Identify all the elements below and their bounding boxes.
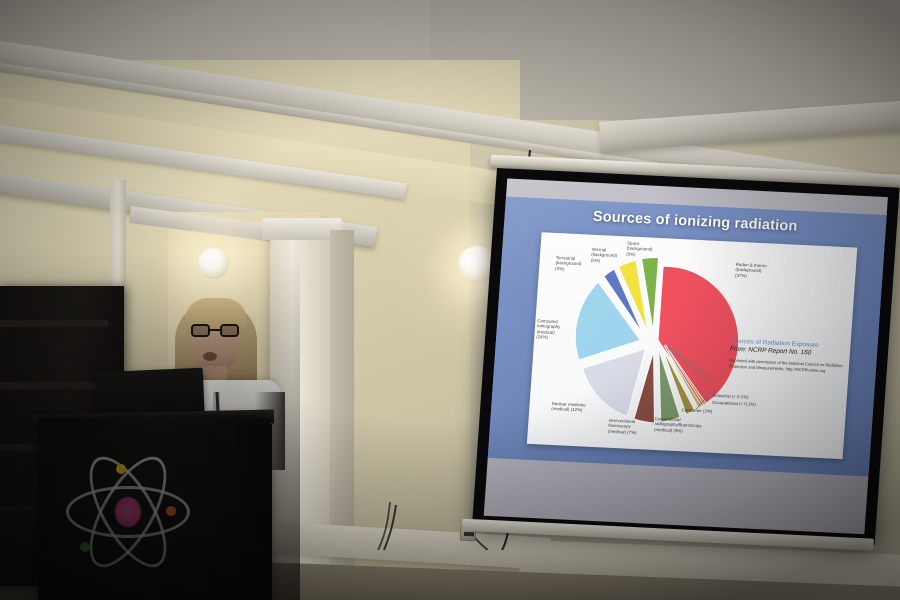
- shelf-board: [0, 382, 108, 389]
- credit-body: Reprinted with permission of the Nationa…: [729, 358, 846, 375]
- label-internal: Internal (background) (5%): [591, 247, 624, 265]
- label-conventional: Conventional radiography/fluoroscopy (me…: [654, 416, 717, 435]
- screen-surface: Sources of ionizing radiation: [484, 179, 888, 535]
- atom-electron-yellow: [116, 464, 126, 474]
- glasses-lens-right: [220, 324, 239, 337]
- label-computed-tomography: Computed tomography (medical) (24%): [536, 318, 567, 341]
- room-scene: Sources of ionizing radiation: [0, 0, 900, 600]
- label-terrestrial: Terrestrial (background) (3%): [555, 255, 590, 273]
- podium-side-panel: [236, 424, 272, 600]
- mouth: [203, 352, 217, 361]
- shelf-board: [0, 320, 108, 327]
- atom-electron-orange: [166, 506, 176, 516]
- atom-electron-green: [80, 542, 90, 552]
- label-interventional: Interventional fluoroscopy (medical) (7%…: [608, 418, 649, 436]
- label-space: Space (background) (5%): [626, 240, 659, 258]
- glasses-icon: [191, 324, 239, 337]
- atom-logo: [62, 446, 194, 578]
- glasses-lens-left: [191, 324, 210, 337]
- glasses-bridge: [210, 329, 220, 331]
- label-radon: Radon & thoron (background) (37%): [735, 262, 798, 281]
- screen-frame: Sources of ionizing radiation: [472, 168, 900, 545]
- atom-nucleus: [115, 497, 141, 527]
- pie-chart-card: Terrestrial (background) (3%) Internal (…: [527, 232, 857, 459]
- presentation-slide: Sources of ionizing radiation: [488, 196, 887, 476]
- wall-sconce-left: [198, 248, 229, 279]
- chart-credit: Sources of Radiation Exposure From: NCRP…: [729, 338, 847, 375]
- projection-screen: Sources of ionizing radiation: [470, 168, 899, 567]
